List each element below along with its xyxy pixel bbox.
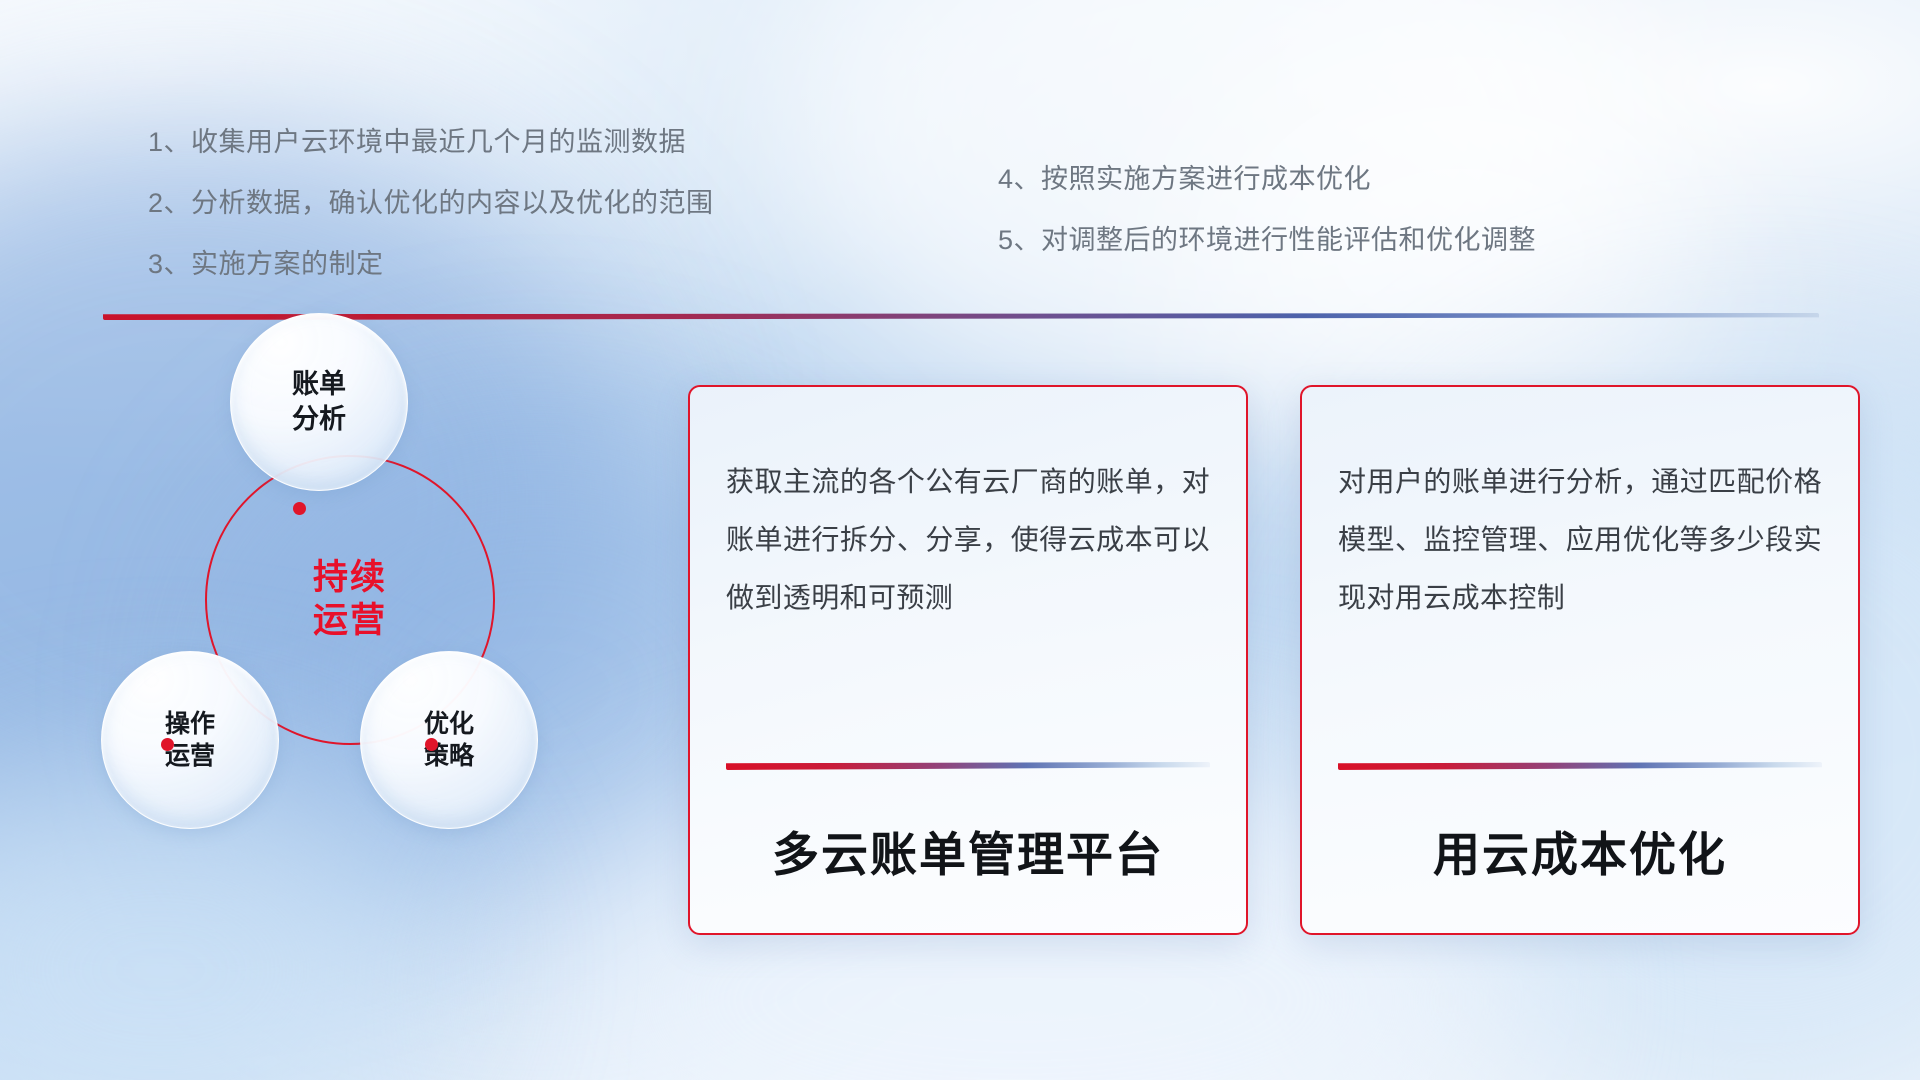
steps-list-left: 1、收集用户云环境中最近几个月的监测数据 2、分析数据，确认优化的内容以及优化的… <box>148 120 714 281</box>
card-2-body-text: 对用户的账单进行分析，通过匹配价格模型、监控管理、应用优化等多少段实现对用云成本… <box>1338 453 1822 628</box>
slide-canvas: 1、收集用户云环境中最近几个月的监测数据 2、分析数据，确认优化的内容以及优化的… <box>0 0 1920 1080</box>
venn-node-dot-right-icon <box>425 738 438 751</box>
venn-node-dot-left-icon <box>161 738 174 751</box>
step-item-3: 3、实施方案的制定 <box>148 242 714 281</box>
venn-diagram: 持续 运营 账单 分析 操作 运营 优化 策略 <box>95 355 615 915</box>
venn-bubble-left-line-1: 操作 <box>165 708 215 740</box>
card-2-title: 用云成本优化 <box>1338 770 1822 933</box>
card-1-divider-rule <box>726 762 1210 770</box>
card-1-title: 多云账单管理平台 <box>726 770 1210 933</box>
venn-bubble-right-line-1: 优化 <box>424 708 474 740</box>
venn-node-dot-top-icon <box>293 502 306 515</box>
card-2-divider-rule <box>1338 762 1822 770</box>
venn-bubble-top-line-2: 分析 <box>292 402 346 437</box>
steps-list-right: 4、按照实施方案进行成本优化 5、对调整后的环境进行性能评估和优化调整 <box>998 157 1536 257</box>
venn-bubble-top-line-1: 账单 <box>292 367 346 402</box>
step-item-4: 4、按照实施方案进行成本优化 <box>998 157 1536 196</box>
step-item-1: 1、收集用户云环境中最近几个月的监测数据 <box>148 120 714 159</box>
header-divider-rule <box>103 313 1819 320</box>
card-1-body-text: 获取主流的各个公有云厂商的账单，对账单进行拆分、分享，使得云成本可以做到透明和可… <box>726 453 1210 628</box>
venn-bubble-operations[interactable]: 操作 运营 <box>101 651 279 829</box>
venn-bubble-billing-analysis[interactable]: 账单 分析 <box>230 313 408 491</box>
feature-card-multicloud-billing[interactable]: 获取主流的各个公有云厂商的账单，对账单进行拆分、分享，使得云成本可以做到透明和可… <box>688 385 1248 935</box>
venn-bubble-optimization-strategy[interactable]: 优化 策略 <box>360 651 538 829</box>
feature-card-cost-optimization[interactable]: 对用户的账单进行分析，通过匹配价格模型、监控管理、应用优化等多少段实现对用云成本… <box>1300 385 1860 935</box>
step-item-2: 2、分析数据，确认优化的内容以及优化的范围 <box>148 181 714 220</box>
step-item-5: 5、对调整后的环境进行性能评估和优化调整 <box>998 218 1536 257</box>
